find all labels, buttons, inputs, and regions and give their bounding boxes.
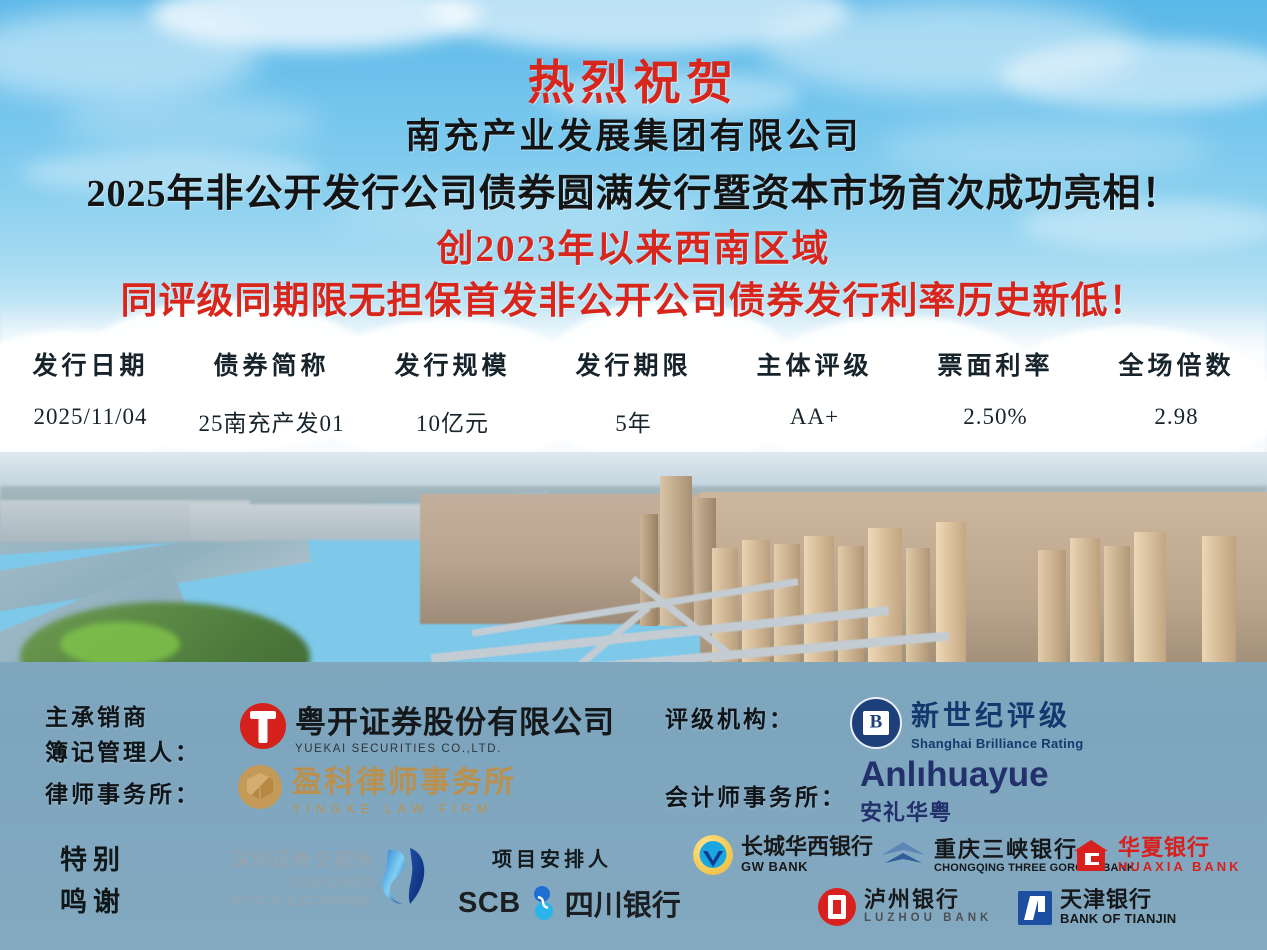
huaxia-name-en: HUAXIA BANK [1118,860,1242,875]
luzhou-icon [818,888,856,926]
label-accounting-firm: 会计师事务所： [665,778,847,812]
cell-issue-term: 5年 [543,400,724,444]
logo-greatwall-west-china-bank: 长城华西银行 GW BANK [693,835,873,875]
cell-issuer-rating: AA+ [724,400,905,444]
huaxia-icon [1072,839,1110,873]
column-header-issue-date: 发行日期 [0,340,181,400]
yingke-name-en: YINGKE LAW FIRM [292,802,516,816]
green-field [60,622,180,666]
highrise [1038,550,1066,668]
cell-coupon-rate: 2.50% [905,400,1086,444]
column-header-subscription-multiple: 全场倍数 [1086,340,1267,400]
column-header-coupon-rate: 票面利率 [905,340,1086,400]
szse-wing-icon [380,846,432,908]
label-project-arranger: 项目安排人 [492,843,612,872]
table-row: 2025/11/04 25南充产发01 10亿元 5年 AA+ 2.50% 2.… [0,400,1267,444]
yingke-name-cn: 盈科律师事务所 [292,757,516,801]
headline-record-line2: 同评级同期限无担保首发非公开公司债券发行利率历史新低！ [0,270,1267,324]
column-header-issue-size: 发行规模 [362,340,543,400]
anlihuayue-name-en: Anlıhuayue [860,757,1049,792]
luzhou-name-cn: 泸州银行 [864,888,992,911]
logo-yuekai-securities: 粤开证券股份有限公司 YUEKAI SECURITIES CO.,LTD. [240,697,615,755]
gwbank-icon [693,835,733,875]
gwbank-name-cn: 长城华西银行 [741,835,873,858]
cell-issue-date: 2025/11/04 [0,400,181,444]
highrise [906,548,930,668]
headline-company-name: 南充产业发展集团有限公司 [0,108,1267,159]
label-law-firm: 律师事务所： [45,775,201,809]
gwbank-name-en: GW BANK [741,860,873,875]
brilliance-name-cn: 新世纪评级 [911,694,1084,734]
sichuan-bank-icon [529,885,557,921]
tianjin-name-en: BANK OF TIANJIN [1060,912,1176,927]
table-header-row: 发行日期 债券简称 发行规模 发行期限 主体评级 票面利率 全场倍数 [0,340,1267,400]
highrise [1134,532,1166,670]
cell-subscription-multiple: 2.98 [1086,400,1267,444]
logo-luzhou-bank: 泸州银行 LUZHOU BANK [818,888,992,926]
yuekai-logo-icon [240,703,286,749]
logo-shenzhen-stock-exchange: 深圳证券交易所 SHENZHEN STOCK EXCHANGE [230,845,432,908]
tianjin-icon [1018,891,1052,925]
luzhou-name-en: LUZHOU BANK [864,912,992,925]
celebration-poster: 热烈祝贺 南充产业发展集团有限公司 2025年非公开发行公司债券圆满发行暨资本市… [0,0,1267,950]
sichuan-bank-abbr: SCB [458,887,521,920]
bond-details-table: 发行日期 债券简称 发行规模 发行期限 主体评级 票面利率 全场倍数 2025/… [0,340,1267,444]
highrise [1202,536,1236,670]
headline-issue-statement: 2025年非公开发行公司债券圆满发行暨资本市场首次成功亮相！ [0,162,1267,217]
label-rating-agency: 评级机构： [665,700,795,734]
tianjin-name-cn: 天津银行 [1060,888,1176,911]
column-header-issuer-rating: 主体评级 [724,340,905,400]
sichuan-bank-name-cn: 四川银行 [565,882,681,924]
logo-huaxia-bank: 华夏银行 HUAXIA BANK [1072,836,1242,875]
column-header-bond-name: 债券简称 [181,340,362,400]
highrise [1170,544,1198,670]
headline-record-line1: 创2023年以来西南区域 [0,218,1267,272]
szse-name-en-line1: SHENZHEN [230,874,374,890]
szse-name-en-line2: STOCK EXCHANGE [230,892,374,908]
label-bookrunner: 簿记管理人： [45,733,201,767]
headline-congratulations: 热烈祝贺 [0,44,1267,113]
cell-issue-size: 10亿元 [362,400,543,444]
yingke-cube-icon [238,765,282,809]
highrise [936,522,966,668]
highrise [868,528,902,670]
cell-bond-name: 25南充产发01 [181,400,362,444]
brilliance-name-en: Shanghai Brilliance Rating [911,736,1084,751]
three-gorges-icon [880,841,926,871]
special-thanks-line1: 特别 [60,840,126,882]
szse-name-cn: 深圳证券交易所 [230,845,374,872]
label-lead-underwriter: 主承销商 [45,698,149,732]
column-header-issue-term: 发行期限 [543,340,724,400]
logo-anlihuayue: Anlıhuayue 安礼华粤 [860,757,1049,827]
anlihuayue-name-cn: 安礼华粤 [860,795,1049,827]
logo-yingke-law-firm: 盈科律师事务所 YINGKE LAW FIRM [238,757,516,816]
logo-sichuan-bank: SCB 四川银行 [458,882,681,924]
logo-bank-of-tianjin: 天津银行 BANK OF TIANJIN [1018,888,1176,927]
highrise [1070,538,1100,668]
yuekai-name-cn: 粤开证券股份有限公司 [295,697,615,742]
special-thanks-label: 特别 鸣谢 [60,840,126,924]
highrise [1104,546,1130,668]
yuekai-name-en: YUEKAI SECURITIES CO.,LTD. [295,743,615,755]
brilliance-seal-icon [850,697,902,749]
logo-shanghai-brilliance-rating: 新世纪评级 Shanghai Brilliance Rating [850,694,1084,751]
special-thanks-line2: 鸣谢 [60,882,126,924]
huaxia-name-cn: 华夏银行 [1118,836,1242,859]
